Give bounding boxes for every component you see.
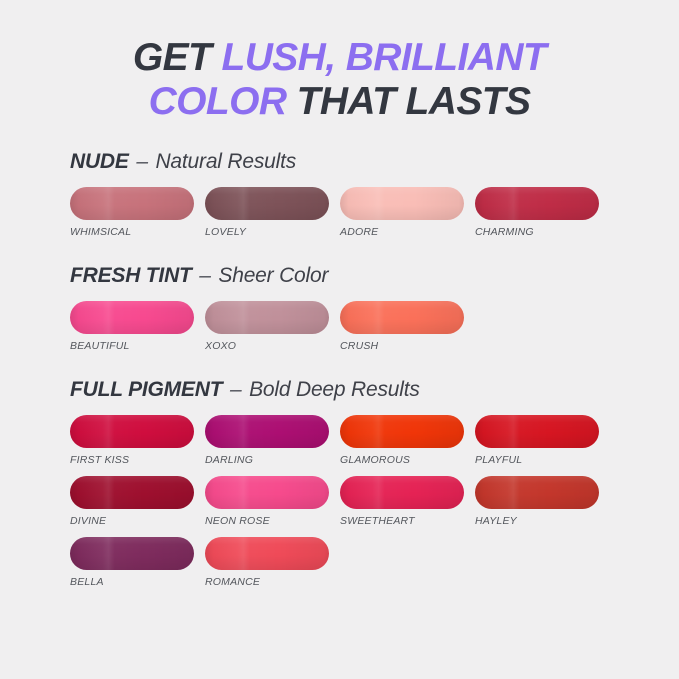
section-description: Bold Deep Results — [249, 378, 420, 401]
swatch-name-label: LOVELY — [205, 226, 340, 238]
swatch-item[interactable]: CHARMING — [475, 187, 610, 238]
section-category-label: NUDE — [70, 150, 129, 173]
swatch-name-label: CRUSH — [340, 340, 475, 352]
section-heading: FRESH TINT – Sheer Color — [70, 264, 639, 288]
swatch-name-label: PLAYFUL — [475, 454, 610, 466]
swatch-color-chip[interactable] — [70, 537, 194, 570]
swatch-item[interactable]: FIRST KISS — [70, 415, 205, 466]
section-heading: NUDE – Natural Results — [70, 150, 639, 174]
section-dash: – — [129, 150, 156, 173]
swatch-name-label: GLAMOROUS — [340, 454, 475, 466]
section-description: Natural Results — [155, 150, 296, 173]
swatch-color-chip[interactable] — [205, 415, 329, 448]
shade-section: NUDE – Natural ResultsWHIMSICALLOVELYADO… — [0, 150, 679, 238]
swatch-color-chip[interactable] — [475, 476, 599, 509]
page-title-line-2: COLOR THAT LASTS — [60, 80, 619, 124]
section-description: Sheer Color — [218, 264, 328, 287]
swatch-color-chip[interactable] — [70, 415, 194, 448]
swatch-name-label: XOXO — [205, 340, 340, 352]
page-title-text-get: GET — [133, 36, 222, 79]
swatch-name-label: ADORE — [340, 226, 475, 238]
swatch-color-chip[interactable] — [70, 187, 194, 220]
swatch-item[interactable]: HAYLEY — [475, 476, 610, 527]
swatch-item[interactable]: BELLA — [70, 537, 205, 588]
swatch-item[interactable]: NEON ROSE — [205, 476, 340, 527]
swatch-color-chip[interactable] — [205, 187, 329, 220]
swatch-item[interactable]: SWEETHEART — [340, 476, 475, 527]
swatch-item[interactable]: DIVINE — [70, 476, 205, 527]
swatch-name-label: DIVINE — [70, 515, 205, 527]
swatch-item[interactable]: WHIMSICAL — [70, 187, 205, 238]
swatch-name-label: BEAUTIFUL — [70, 340, 205, 352]
swatch-item[interactable]: DARLING — [205, 415, 340, 466]
swatch-name-label: DARLING — [205, 454, 340, 466]
swatch-name-label: FIRST KISS — [70, 454, 205, 466]
page-title-accent-lush-brilliant: LUSH, BRILLIANT — [221, 36, 546, 79]
swatch-name-label: SWEETHEART — [340, 515, 475, 527]
shade-sections: NUDE – Natural ResultsWHIMSICALLOVELYADO… — [0, 150, 679, 588]
swatch-name-label: NEON ROSE — [205, 515, 340, 527]
swatch-color-chip[interactable] — [70, 476, 194, 509]
swatch-name-label: HAYLEY — [475, 515, 610, 527]
swatch-name-label: ROMANCE — [205, 576, 340, 588]
section-category-label: FRESH TINT — [70, 264, 192, 287]
swatch-color-chip[interactable] — [475, 415, 599, 448]
page-title: GET LUSH, BRILLIANT COLOR THAT LASTS — [0, 0, 679, 124]
swatch-color-chip[interactable] — [340, 476, 464, 509]
page-title-line-1: GET LUSH, BRILLIANT — [60, 36, 619, 80]
swatch-color-chip[interactable] — [205, 476, 329, 509]
swatch-grid: FIRST KISSDARLINGGLAMOROUSPLAYFULDIVINEN… — [70, 415, 639, 588]
swatch-grid: WHIMSICALLOVELYADORECHARMING — [70, 187, 639, 238]
page-title-accent-color: COLOR — [149, 80, 287, 123]
swatch-name-label: BELLA — [70, 576, 205, 588]
swatch-color-chip[interactable] — [340, 301, 464, 334]
shade-section: FULL PIGMENT – Bold Deep ResultsFIRST KI… — [0, 378, 679, 588]
swatch-color-chip[interactable] — [340, 415, 464, 448]
swatch-color-chip[interactable] — [205, 301, 329, 334]
section-heading: FULL PIGMENT – Bold Deep Results — [70, 378, 639, 402]
section-category-label: FULL PIGMENT — [70, 378, 222, 401]
shade-section: FRESH TINT – Sheer ColorBEAUTIFULXOXOCRU… — [0, 264, 679, 352]
swatch-color-chip[interactable] — [340, 187, 464, 220]
swatch-color-chip[interactable] — [205, 537, 329, 570]
section-dash: – — [222, 378, 249, 401]
swatch-grid: BEAUTIFULXOXOCRUSH — [70, 301, 639, 352]
section-dash: – — [192, 264, 219, 287]
swatch-item[interactable]: BEAUTIFUL — [70, 301, 205, 352]
swatch-item[interactable]: CRUSH — [340, 301, 475, 352]
swatch-item[interactable]: ROMANCE — [205, 537, 340, 588]
swatch-item[interactable]: ADORE — [340, 187, 475, 238]
swatch-color-chip[interactable] — [70, 301, 194, 334]
swatch-item[interactable]: XOXO — [205, 301, 340, 352]
swatch-name-label: WHIMSICAL — [70, 226, 205, 238]
shade-chart-page: GET LUSH, BRILLIANT COLOR THAT LASTS NUD… — [0, 0, 679, 679]
swatch-item[interactable]: PLAYFUL — [475, 415, 610, 466]
swatch-item[interactable]: GLAMOROUS — [340, 415, 475, 466]
page-title-text-that-lasts: THAT LASTS — [286, 80, 530, 123]
swatch-color-chip[interactable] — [475, 187, 599, 220]
swatch-name-label: CHARMING — [475, 226, 610, 238]
swatch-item[interactable]: LOVELY — [205, 187, 340, 238]
